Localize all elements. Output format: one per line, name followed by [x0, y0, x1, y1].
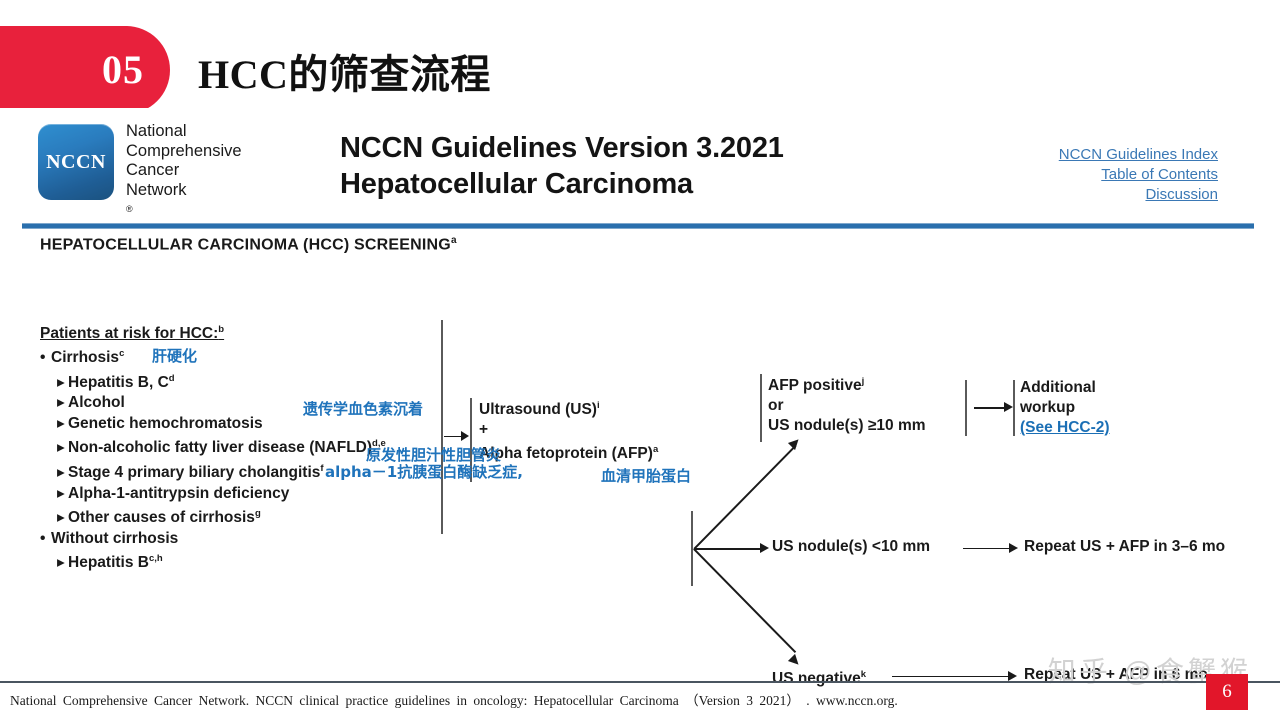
- risk-item: ▸Hepatitis B, Cd: [40, 369, 380, 394]
- bullet-triangle-icon: ▸: [57, 508, 68, 529]
- risk-item-footnote: c: [119, 348, 124, 359]
- chinese-annotation: 遗传学血色素沉着: [303, 398, 423, 419]
- workup-line-1: Additional: [1020, 378, 1230, 398]
- risk-item-label: Without cirrhosis: [51, 530, 178, 547]
- bullet-triangle-icon: ▸: [57, 484, 68, 505]
- risk-item-footnote: c,h: [149, 553, 163, 564]
- risk-item-label: Genetic hemochromatosis: [68, 415, 263, 432]
- arrow-branch-small-nodule-line: [694, 548, 762, 550]
- bullet-triangle-icon: ▸: [57, 438, 68, 459]
- test-ultrasound: Ultrasound (US)i: [479, 396, 709, 420]
- risk-item-label: Hepatitis B: [68, 554, 149, 571]
- workup-line-2: workup: [1020, 398, 1230, 418]
- risk-item-label: Other causes of cirrhosis: [68, 509, 255, 526]
- risk-group-heading: Patients at risk for HCC:b: [40, 324, 224, 343]
- risk-item-label: Alpha-1-antitrypsin deficiency: [68, 485, 289, 502]
- node-repeat-3-6-mo: Repeat US + AFP in 3–6 mo: [1024, 537, 1225, 557]
- bullet-triangle-icon: ▸: [57, 463, 68, 484]
- arrow-negative-to-outcome-line: [892, 676, 1010, 678]
- bullet-triangle-icon: ▸: [57, 414, 68, 435]
- nccn-guideline-document: NCCN National Comprehensive Cancer Netwo…: [0, 108, 1280, 668]
- arrow-to-workup-head: [1004, 402, 1013, 412]
- arrow-negative-to-outcome-head: [1008, 671, 1017, 681]
- risk-item-label: Hepatitis B, C: [68, 374, 169, 391]
- bullet-triangle-icon: ▸: [57, 393, 68, 414]
- node-us-negative: US negativek: [772, 665, 866, 689]
- risk-item: ▸Alpha-1-antitrypsin deficiency: [40, 484, 380, 505]
- bracket-workup: [1013, 380, 1015, 436]
- bullet-triangle-icon: ▸: [57, 553, 68, 574]
- link-see-hcc-2[interactable]: (See HCC-2): [1020, 419, 1110, 436]
- slide-header: 05 HCC的筛查流程: [0, 26, 1280, 118]
- chinese-annotation: alpha－1抗胰蛋白酶缺乏症,: [325, 461, 523, 482]
- screening-flowchart: Patients at risk for HCC:b •Cirrhosisc▸H…: [0, 108, 1280, 668]
- bullet-triangle-icon: ▸: [57, 373, 68, 394]
- risk-item: •Without cirrhosis: [40, 529, 380, 550]
- afp-positive-line-3: US nodule(s) ≥10 mm: [768, 416, 978, 436]
- risk-item-footnote: f: [320, 463, 323, 474]
- risk-item-label: Alcohol: [68, 394, 125, 411]
- risk-item: •Cirrhosisc: [40, 344, 380, 369]
- risk-item-label: Cirrhosis: [51, 349, 119, 366]
- bracket-risk-group: [441, 320, 443, 534]
- arrow-branch-small-nodule-head: [760, 543, 769, 553]
- footer-divider: [0, 681, 1280, 683]
- bracket-afp-positive: [760, 374, 762, 442]
- bracket-before-workup: [965, 380, 967, 436]
- afp-positive-line-1: AFP positivej: [768, 372, 978, 396]
- arrow-risk-to-test-line: [444, 436, 462, 438]
- node-screening-tests: Ultrasound (US)i + Alpha fetoprotein (AF…: [479, 396, 709, 464]
- bullet-dot-icon: •: [40, 529, 51, 550]
- arrow-to-workup-line: [974, 407, 1006, 409]
- risk-item: ▸Other causes of cirrhosisg: [40, 504, 380, 529]
- bullet-dot-icon: •: [40, 348, 51, 369]
- node-additional-workup: Additional workup (See HCC-2): [1020, 378, 1230, 438]
- risk-item-footnote: g: [255, 508, 261, 519]
- risk-item-label: Stage 4 primary biliary cholangitis: [68, 464, 320, 481]
- risk-item: ▸Hepatitis Bc,h: [40, 549, 380, 574]
- chinese-annotation: 肝硬化: [152, 345, 197, 366]
- node-us-nodule-small: US nodule(s) <10 mm: [772, 537, 930, 557]
- risk-item: ▸Non-alcoholic fatty liver disease (NAFL…: [40, 434, 380, 459]
- section-number-badge: 05: [0, 26, 170, 114]
- test-plus-sign: +: [479, 420, 709, 440]
- afp-positive-line-2: or: [768, 396, 978, 416]
- arrow-small-nodule-to-outcome-head: [1009, 543, 1018, 553]
- page-title: HCC的筛查流程: [198, 42, 491, 100]
- arrow-small-nodule-to-outcome-line: [963, 548, 1011, 550]
- node-afp-positive: AFP positivej or US nodule(s) ≥10 mm: [768, 372, 978, 436]
- risk-factor-list: •Cirrhosisc▸Hepatitis B, Cd▸Alcohol▸Gene…: [40, 344, 380, 574]
- arrow-branch-negative-line: [693, 548, 796, 653]
- page-number-badge: 6: [1206, 674, 1248, 710]
- section-number: 05: [102, 50, 144, 90]
- arrow-risk-to-test-head: [461, 431, 469, 441]
- risk-item-label: Non-alcoholic fatty liver disease (NAFLD…: [68, 439, 372, 456]
- chinese-annotation: 血清甲胎蛋白: [601, 465, 691, 486]
- citation-text: National Comprehensive Cancer Network. N…: [10, 692, 1005, 710]
- risk-item-footnote: d: [169, 373, 175, 384]
